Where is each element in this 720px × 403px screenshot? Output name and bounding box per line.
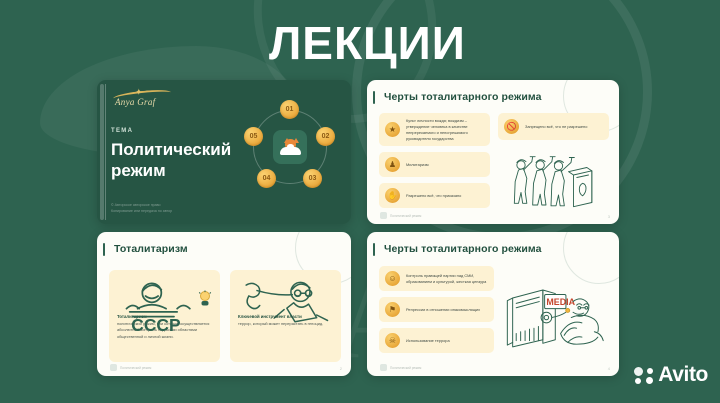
title-accent-bar [373,243,375,256]
bullet-text: Культ личности вождя; вождизм – утвержде… [406,118,484,141]
definition-card: СССР Тоталитаризм политический режим, пр… [109,270,220,362]
control-icon: ☺ [385,271,400,286]
bullet-item: ☺ Контроль правящей партии над СМИ, обра… [379,266,494,291]
bullet-item: ★ Культ личности вождя; вождизм – утверж… [379,113,490,146]
bullet-item: ⚑ Репрессии в отношении инакомыслящих [379,297,494,322]
diagram-node: 05 [244,127,263,146]
footer-text: Политический режим [120,366,151,370]
diagram-node: 04 [257,169,276,188]
topic-diagram: 01 02 03 04 05 [233,94,345,210]
slide-topic[interactable]: ✦ Anya Graf ТЕМА Политическийрежим © Авт… [97,80,351,224]
diagram-node: 02 [316,127,335,146]
svg-text:MEDIA: MEDIA [547,297,576,307]
bullet-text: Милитаризм [406,162,429,168]
footer-logo-icon [380,364,387,371]
avito-watermark: Avito [634,363,708,387]
diagram-center-mascot [273,130,307,164]
leader-icon: ★ [385,122,400,137]
marching-crowd-illustration [498,145,609,210]
brand-logo: ✦ Anya Graf [111,90,173,110]
soldier-icon: ♟ [385,157,400,172]
definition-card: Ключевой инструмент власти террор, котор… [230,270,341,362]
avito-wordmark: Avito [658,363,708,387]
bullet-item: ✋ Разрешено всё, что приказано [379,183,490,208]
slide-features-2[interactable]: Черты тоталитарного режима ☺ Контроль пр… [367,232,619,376]
hand-whip-icon [238,277,333,311]
bullet-text: Разрешено всё, что приказано [406,193,461,199]
slide-totalitarianism[interactable]: Тоталитаризм СССР Тоталитаризм [97,232,351,376]
slide-features-1[interactable]: Черты тоталитарного режима ★ Культ лично… [367,80,619,224]
bullet-text: Контроль правящей партии над СМИ, образо… [406,273,488,285]
page-number: 3 [608,214,610,219]
bullet-text: Использование террора [406,338,450,344]
slide-title: Тоталитаризм [114,243,339,255]
diagram-node: 01 [280,100,299,119]
bullet-text: Запрещено всё, что не разрешено [525,124,587,130]
terror-icon: ☠ [385,333,400,348]
order-icon: ✋ [385,188,400,203]
footer-logo-icon [380,212,387,219]
avito-logo-icon [634,367,653,384]
diagram-node: 03 [303,169,322,188]
slide-footer: Политический режим [380,364,421,371]
logo-wordmark: Anya Graf [115,97,155,107]
slide-title: Черты тоталитарного режима [384,91,607,103]
lightbulb-icon [197,290,213,313]
slide-footer: Политический режим [380,212,421,219]
bullet-item: ♟ Милитаризм [379,152,490,177]
bullet-item: 🚫 Запрещено всё, что не разрешено [498,113,609,140]
bullet-item: ☠ Использование террора [379,328,494,353]
title-accent-bar [103,243,105,256]
page-title: ЛЕКЦИИ [269,16,466,70]
logo-star-icon: ✦ [135,88,143,97]
slide-footer: Политический режим [110,364,151,371]
footer-text: Политический режим [390,366,421,370]
repression-icon: ⚑ [385,302,400,317]
page-number: 4 [608,366,610,371]
page-number: 2 [340,366,342,371]
footer-text: Политический режим [390,214,421,218]
poster-canvas: GRAFS ЛЕКЦИИ ✦ Anya Graf ТЕМА Политическ… [0,0,720,403]
topic-title: Политическийрежим [111,140,241,181]
prohibition-icon: 🚫 [504,119,519,134]
slide-title: Черты тоталитарного режима [384,243,607,255]
bullet-text: Репрессии в отношении инакомыслящих [406,307,480,313]
footer-logo-icon [110,364,117,371]
svg-text:СССР: СССР [131,315,181,334]
fox-mascot-icon [280,139,301,155]
card-text: террор, который может перерастать в гено… [238,321,333,327]
media-projector-illustration: MEDIA [502,266,609,362]
title-accent-bar [373,91,375,104]
topic-footnote: © Авторское авторское правоКопирование и… [111,202,172,214]
